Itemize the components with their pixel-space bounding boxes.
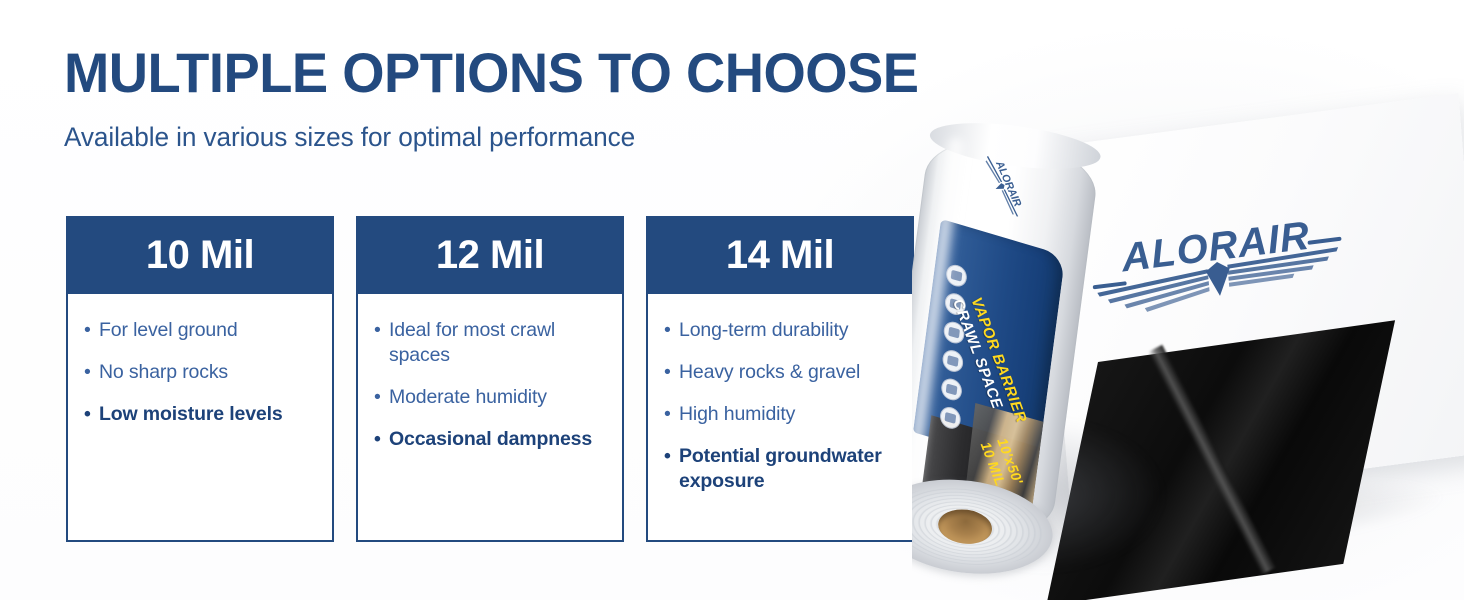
feature-badge-icon	[940, 376, 963, 403]
option-card-title: 14 Mil	[726, 235, 834, 275]
option-card-10-mil[interactable]: 10 Mil For level ground No sharp rocks L…	[66, 216, 334, 542]
option-card-header: 10 Mil	[66, 216, 334, 294]
feature-badge-icon	[945, 262, 968, 289]
option-card-header: 14 Mil	[646, 216, 914, 294]
vapor-barrier-options-banner: MULTIPLE OPTIONS TO CHOOSE Available in …	[0, 0, 1464, 600]
list-item: High humidity	[664, 402, 898, 427]
feature-badge-icon	[939, 405, 962, 432]
option-card-12-mil[interactable]: 12 Mil Ideal for most crawl spaces Moder…	[356, 216, 624, 542]
feature-list: Ideal for most crawl spaces Moderate hum…	[374, 318, 608, 452]
product-photo: ALORAIR ALORAIR	[912, 0, 1464, 600]
list-item: Low moisture levels	[84, 402, 318, 427]
option-card-body: Long-term durability Heavy rocks & grave…	[648, 294, 912, 540]
list-item: Occasional dampness	[374, 427, 608, 452]
option-card-title: 12 Mil	[436, 235, 544, 275]
list-item: No sharp rocks	[84, 360, 318, 385]
feature-list: Long-term durability Heavy rocks & grave…	[664, 318, 898, 494]
list-item: Ideal for most crawl spaces	[374, 318, 608, 368]
option-card-14-mil[interactable]: 14 Mil Long-term durability Heavy rocks …	[646, 216, 914, 542]
list-item: Heavy rocks & gravel	[664, 360, 898, 385]
list-item: Long-term durability	[664, 318, 898, 343]
option-card-body: Ideal for most crawl spaces Moderate hum…	[358, 294, 622, 540]
options-card-group: 10 Mil For level ground No sharp rocks L…	[66, 216, 914, 542]
list-item: Potential groundwater exposure	[664, 444, 898, 494]
list-item: Moderate humidity	[374, 385, 608, 410]
list-item: For level ground	[84, 318, 318, 343]
page-subtitle: Available in various sizes for optimal p…	[64, 122, 635, 153]
option-card-title: 10 Mil	[146, 235, 254, 275]
option-card-header: 12 Mil	[356, 216, 624, 294]
page-title: MULTIPLE OPTIONS TO CHOOSE	[64, 44, 919, 101]
option-card-body: For level ground No sharp rocks Low mois…	[68, 294, 332, 540]
feature-list: For level ground No sharp rocks Low mois…	[84, 318, 318, 427]
feature-badge-icon	[941, 348, 964, 375]
